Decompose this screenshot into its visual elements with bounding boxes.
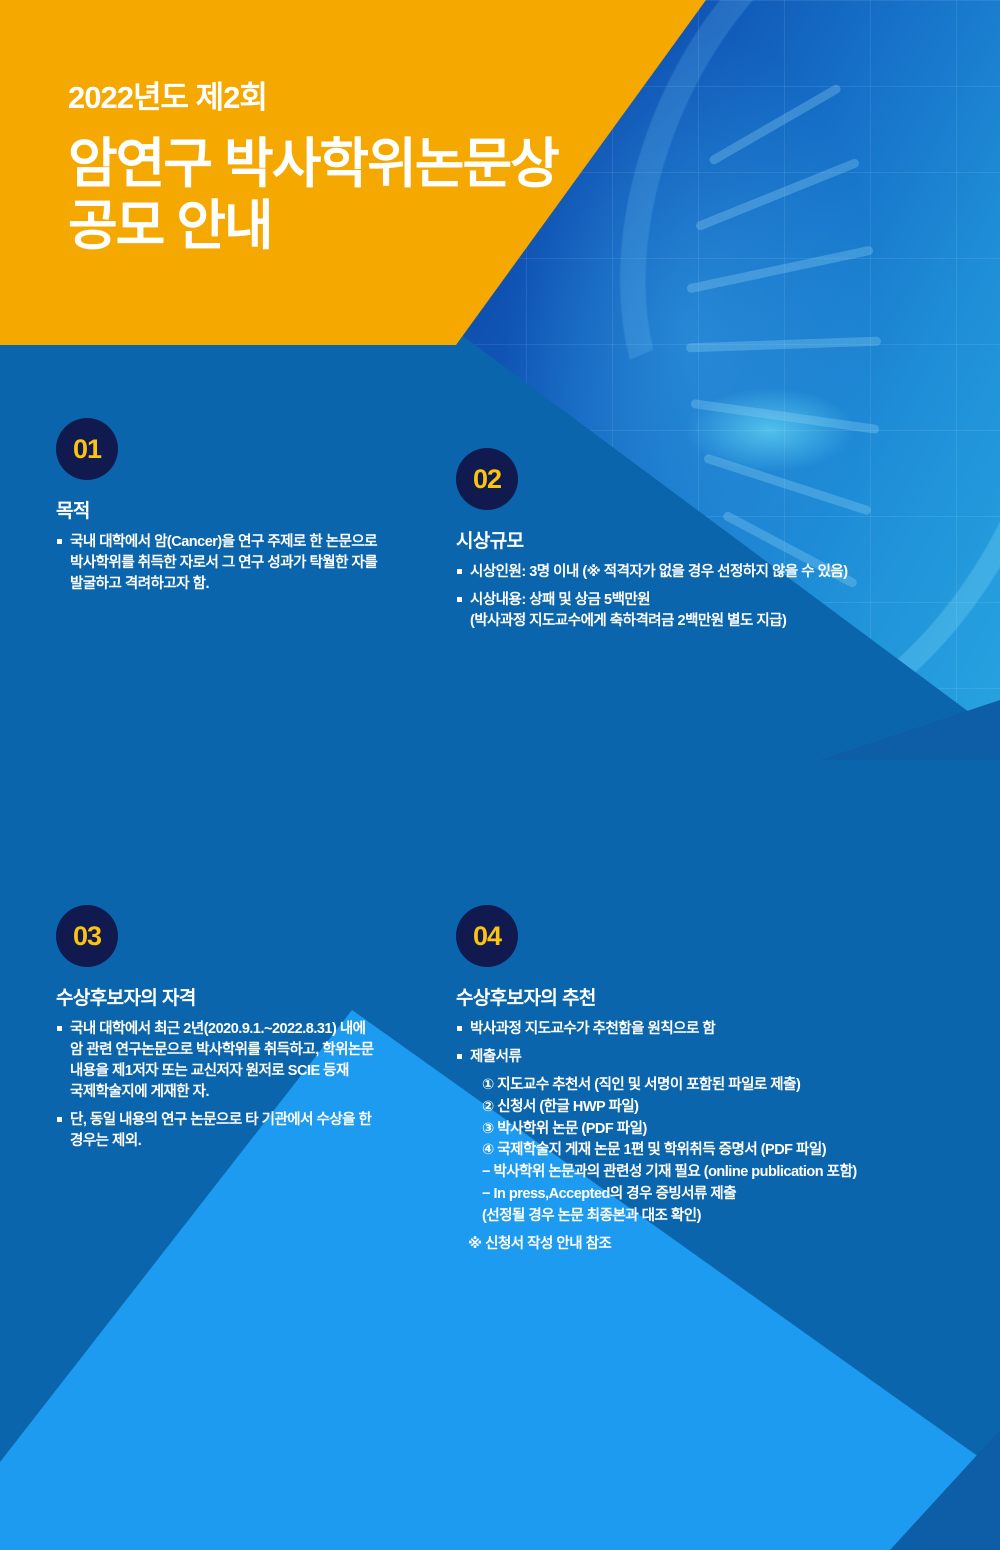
section-badge-01: 01 bbox=[56, 418, 118, 480]
section-02: 02 시상규모 시상인원: 3명 이내 (※ 적격자가 없을 경우 선정하지 않… bbox=[456, 448, 976, 639]
section-bullets-01: 국내 대학에서 암(Cancer)을 연구 주제로 한 논문으로 박사학위를 취… bbox=[56, 532, 456, 595]
section-title-01: 목적 bbox=[56, 496, 456, 523]
header-kicker: 2022년도 제2회 bbox=[68, 82, 558, 113]
section-row: 07 접수처 접수방법: 이메일 또는 우편 제출 우편 접수처: (우)031… bbox=[0, 1210, 1000, 1530]
section-row: 01 목적 국내 대학에서 암(Cancer)을 연구 주제로 한 논문으로 박… bbox=[0, 400, 1000, 650]
dna-rung-icon bbox=[686, 337, 881, 353]
bullet-item: 시상인원: 3명 이내 (※ 적격자가 없을 경우 선정하지 않을 수 있음) bbox=[456, 562, 976, 583]
bullet-item: 국내 대학에서 암(Cancer)을 연구 주제로 한 논문으로 박사학위를 취… bbox=[56, 532, 456, 595]
dna-rung-icon bbox=[708, 83, 842, 166]
section-badge-02: 02 bbox=[456, 448, 518, 510]
page-title: 암연구 박사학위논문상 공모 안내 bbox=[68, 133, 558, 257]
section-badge-04: 04 bbox=[456, 905, 518, 967]
dna-rung-icon bbox=[686, 245, 874, 293]
sections-container: 01 목적 국내 대학에서 암(Cancer)을 연구 주제로 한 논문으로 박… bbox=[0, 400, 1000, 1530]
section-row: 05 주요 심사 평가 대상 박사학위 연구 논문 내용의 창의성과 학문적 가… bbox=[0, 1000, 1000, 1210]
header: 2022년도 제2회 암연구 박사학위논문상 공모 안내 bbox=[68, 82, 558, 257]
section-bullets-02: 시상인원: 3명 이내 (※ 적격자가 없을 경우 선정하지 않을 수 있음) … bbox=[456, 562, 976, 632]
section-badge-03: 03 bbox=[56, 905, 118, 967]
section-01: 01 목적 국내 대학에서 암(Cancer)을 연구 주제로 한 논문으로 박… bbox=[56, 418, 456, 602]
bullet-item: 시상내용: 상패 및 상금 5백만원 (박사과정 지도교수에게 축하격려금 2백… bbox=[456, 590, 976, 632]
poster-canvas: 2022년도 제2회 암연구 박사학위논문상 공모 안내 01 목적 국내 대학… bbox=[0, 0, 1000, 1550]
section-title-02: 시상규모 bbox=[456, 526, 976, 553]
section-row: 03 수상후보자의 자격 국내 대학에서 최근 2년(2020.9.1.~202… bbox=[0, 650, 1000, 1000]
dna-rung-icon bbox=[695, 158, 861, 232]
